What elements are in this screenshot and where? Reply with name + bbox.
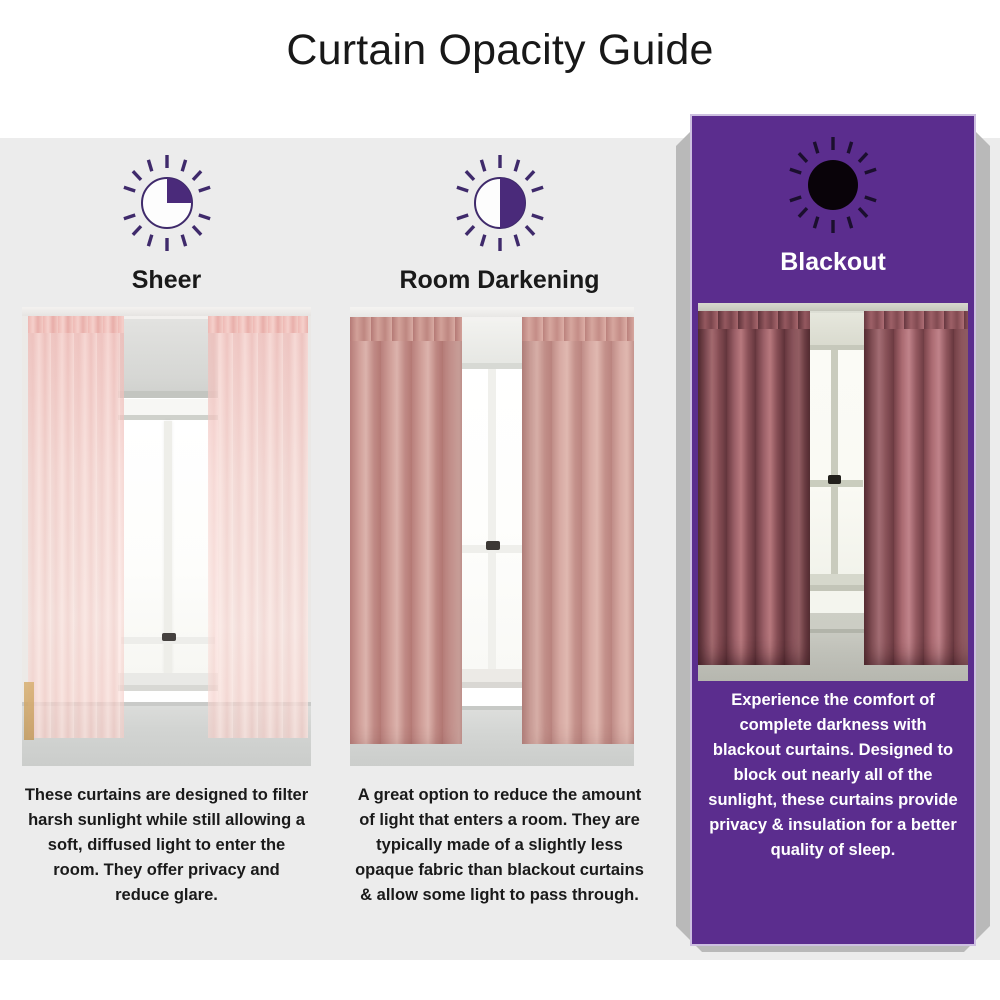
sun-half-filled-icon: [450, 153, 550, 253]
column-description-blackout: Experience the comfort of complete darkn…: [692, 688, 974, 864]
column-heading-blackout: Blackout: [692, 248, 974, 277]
room-darkening-icon-wrap: [333, 148, 666, 258]
sun-quarter-filled-icon: [117, 153, 217, 253]
sheer-icon-wrap: [0, 148, 333, 258]
sun-full-filled-icon: [783, 135, 883, 235]
column-description-sheer: These curtains are designed to filter ha…: [0, 783, 333, 908]
infographic-canvas: Curtain Opacity Guide: [0, 0, 1000, 1000]
column-heading-room-darkening: Room Darkening: [333, 266, 666, 295]
blackout-icon-wrap: [692, 130, 974, 240]
column-description-room-darkening: A great option to reduce the amount of l…: [333, 783, 666, 908]
photo-blackout: [698, 303, 968, 681]
page-title: Curtain Opacity Guide: [0, 26, 1000, 75]
photo-room-darkening: [350, 307, 634, 766]
photo-sheer: [22, 307, 311, 766]
column-heading-sheer: Sheer: [0, 266, 333, 295]
column-blackout[interactable]: Blackout: [690, 114, 976, 946]
